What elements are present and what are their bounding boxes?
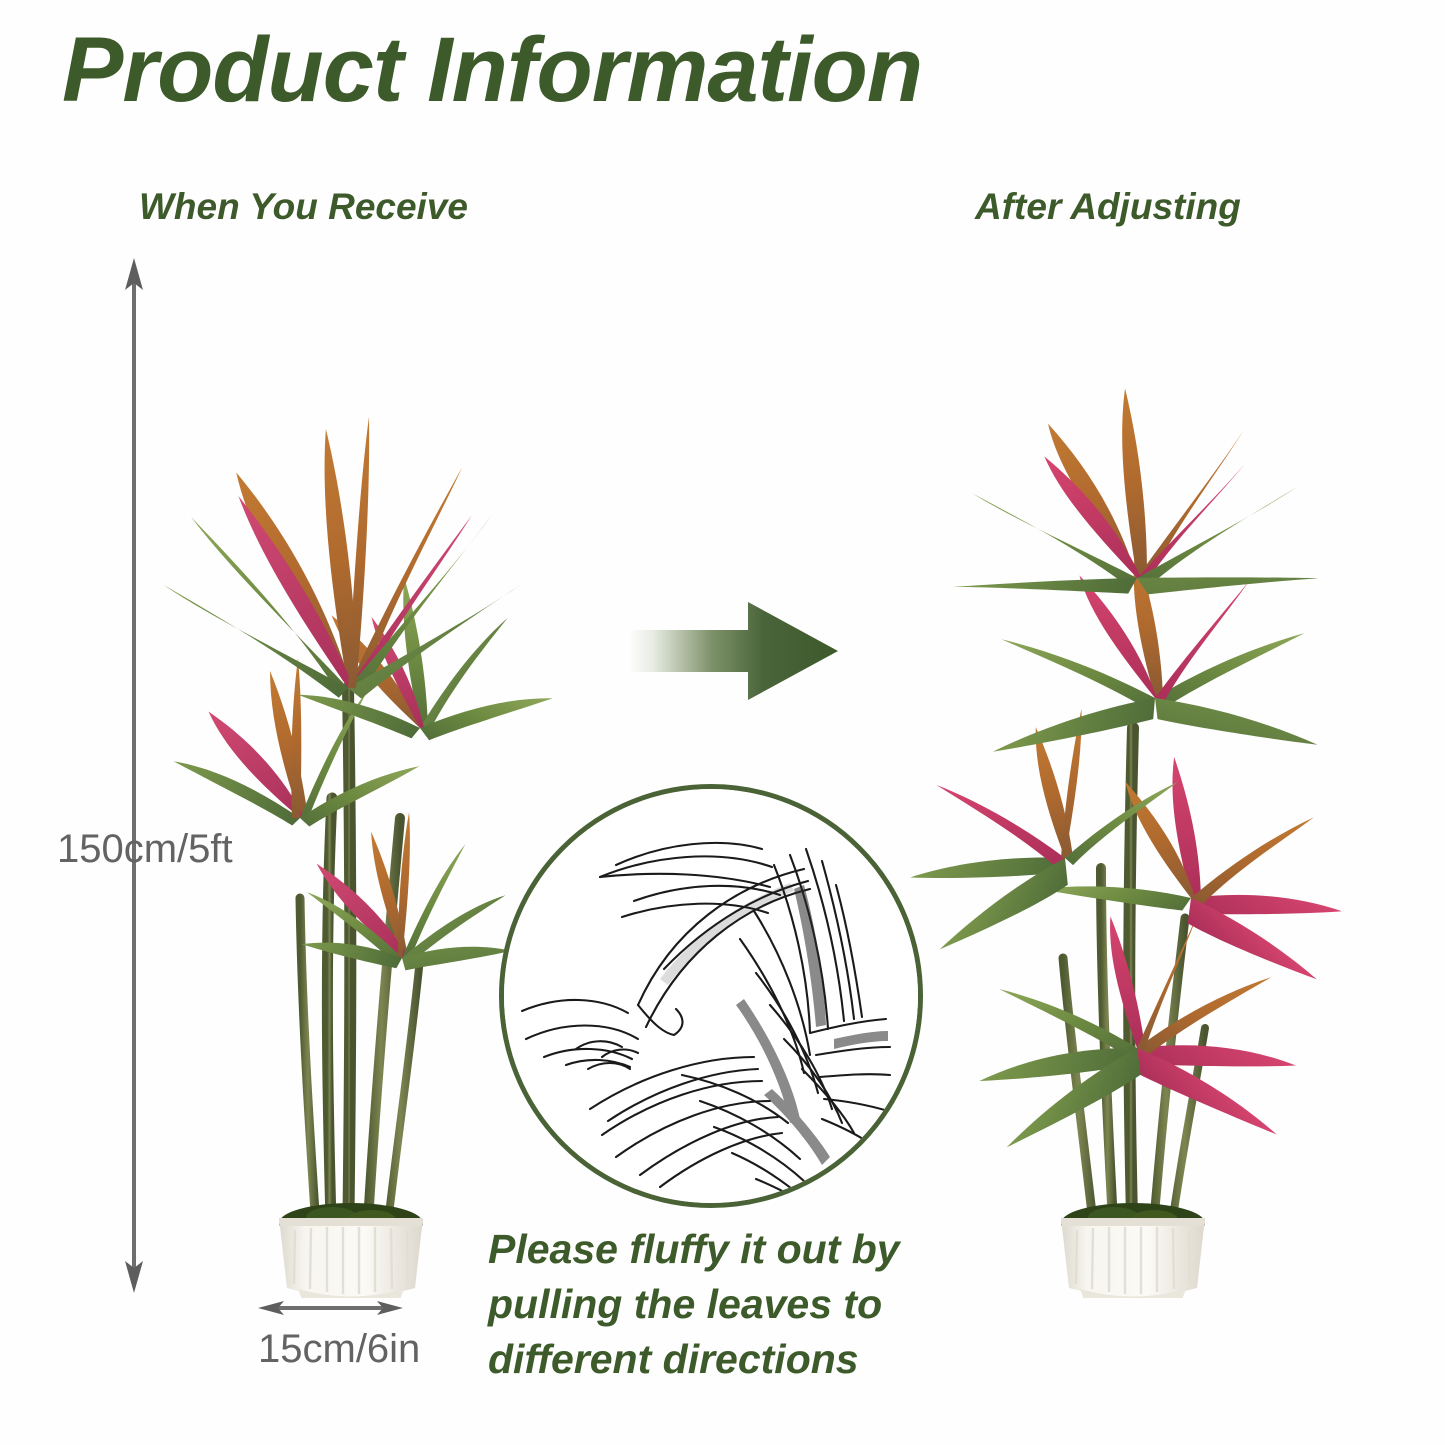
plant-after-adjusting	[905, 258, 1375, 1298]
hand-pulling-leaves-illustration	[504, 789, 918, 1203]
right-arrow-icon	[628, 596, 838, 704]
instruction-line-1: Please fluffy it out by	[488, 1222, 1008, 1277]
plant-pot	[279, 1218, 423, 1298]
plant-when-you-receive	[152, 258, 622, 1298]
product-information-infographic: Product Information When You Receive Aft…	[0, 0, 1445, 1445]
cordyline-plant-fluffed-illustration	[905, 258, 1375, 1298]
cordyline-plant-unfluffed-illustration	[152, 258, 622, 1298]
caption-when-you-receive: When You Receive	[139, 186, 468, 228]
width-dimension-label: 15cm/6in	[258, 1327, 420, 1372]
page-title: Product Information	[62, 22, 922, 119]
caption-after-adjusting: After Adjusting	[975, 186, 1241, 228]
instruction-line-2: pulling the leaves to	[488, 1277, 1008, 1332]
leaf-cluster-mid-right-spread	[1039, 756, 1342, 1017]
detail-callout-circle	[499, 784, 923, 1208]
leaf-cluster-crown	[952, 388, 1318, 673]
vertical-double-arrow-icon	[118, 258, 150, 1293]
instruction-text: Please fluffy it out by pulling the leav…	[488, 1222, 1008, 1387]
leaf-cluster-top-center	[164, 417, 523, 741]
plant-pot	[1061, 1218, 1205, 1298]
instruction-line-3: different directions	[488, 1332, 1008, 1387]
